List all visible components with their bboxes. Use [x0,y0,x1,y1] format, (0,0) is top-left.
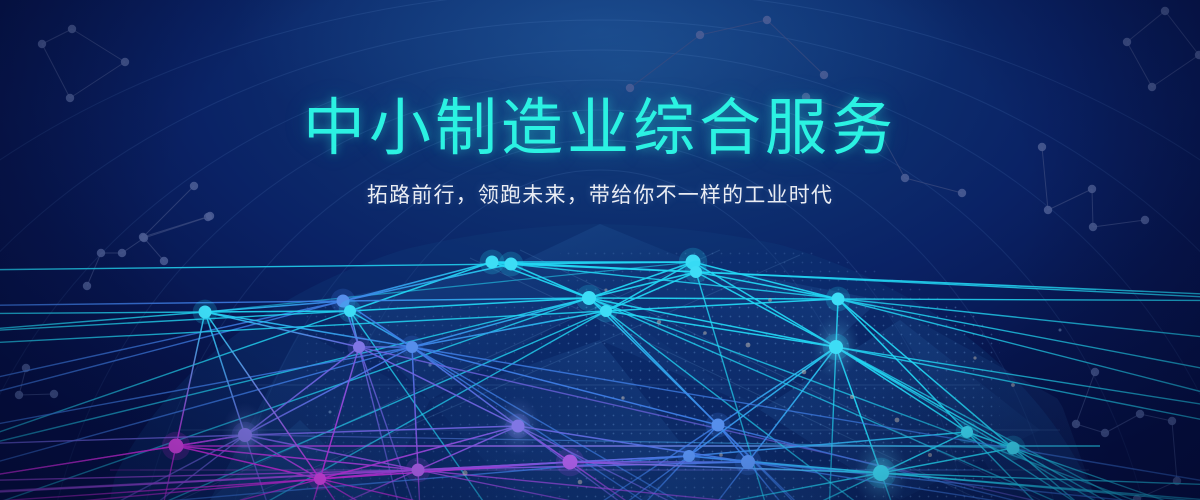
background-vignette [0,0,1200,500]
hero-text-block: 中小制造业综合服务 拓路前行，领跑未来，带给你不一样的工业时代 [0,96,1200,209]
page-subtitle: 拓路前行，领跑未来，带给你不一样的工业时代 [0,182,1200,209]
hero-banner: 中小制造业综合服务 拓路前行，领跑未来，带给你不一样的工业时代 [0,0,1200,500]
page-title: 中小制造业综合服务 [0,96,1200,162]
